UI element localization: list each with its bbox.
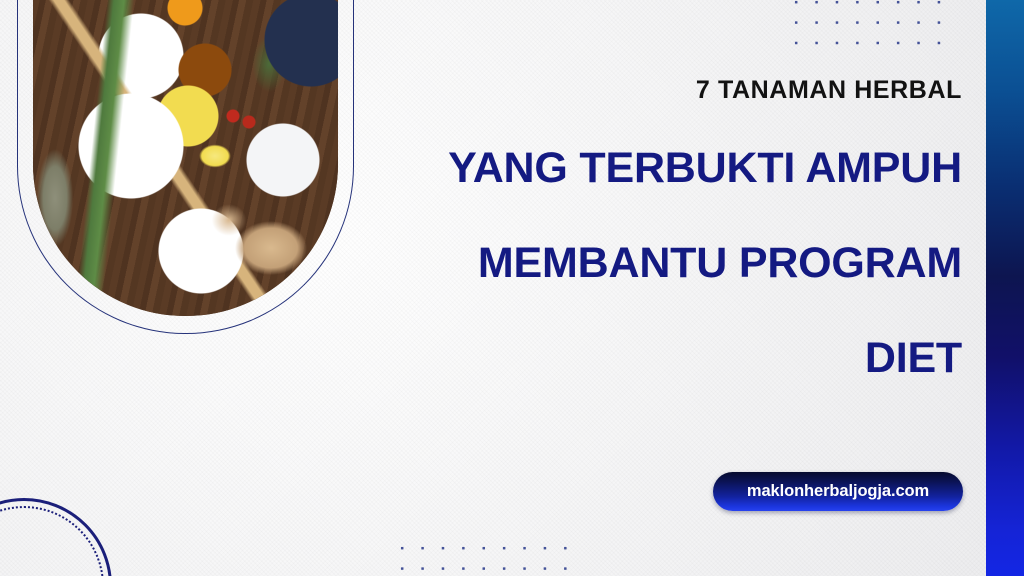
hero-photo xyxy=(33,0,338,316)
eyebrow-text: 7 TANAMAN HERBAL xyxy=(360,78,962,103)
poster-canvas: 7 TANAMAN HERBAL YANG TERBUKTI AMPUH MEM… xyxy=(0,0,1024,576)
headline-line-2: MEMBANTU PROGRAM xyxy=(360,242,962,285)
dot-grid-top-icon xyxy=(786,0,958,50)
headline-line-3: DIET xyxy=(360,337,962,380)
website-cta-label: maklonherbaljogja.com xyxy=(747,482,929,501)
quarter-circle-dotted-icon xyxy=(0,506,104,576)
website-cta-button[interactable]: maklonherbaljogja.com xyxy=(713,472,963,511)
herbal-ingredients-flatlay-image xyxy=(33,0,338,316)
headline-line-1: YANG TERBUKTI AMPUH xyxy=(360,147,962,190)
copy-block: 7 TANAMAN HERBAL YANG TERBUKTI AMPUH MEM… xyxy=(360,78,962,380)
accent-gradient-bar xyxy=(986,0,1024,576)
dot-grid-bottom-icon xyxy=(392,538,582,576)
